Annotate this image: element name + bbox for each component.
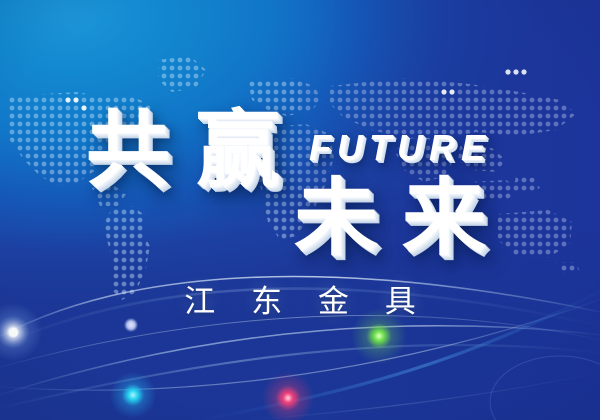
vignette-overlay bbox=[0, 0, 600, 420]
promotional-banner: 共 赢 FUTURE 未 来 江 东 金 具 bbox=[0, 0, 600, 420]
